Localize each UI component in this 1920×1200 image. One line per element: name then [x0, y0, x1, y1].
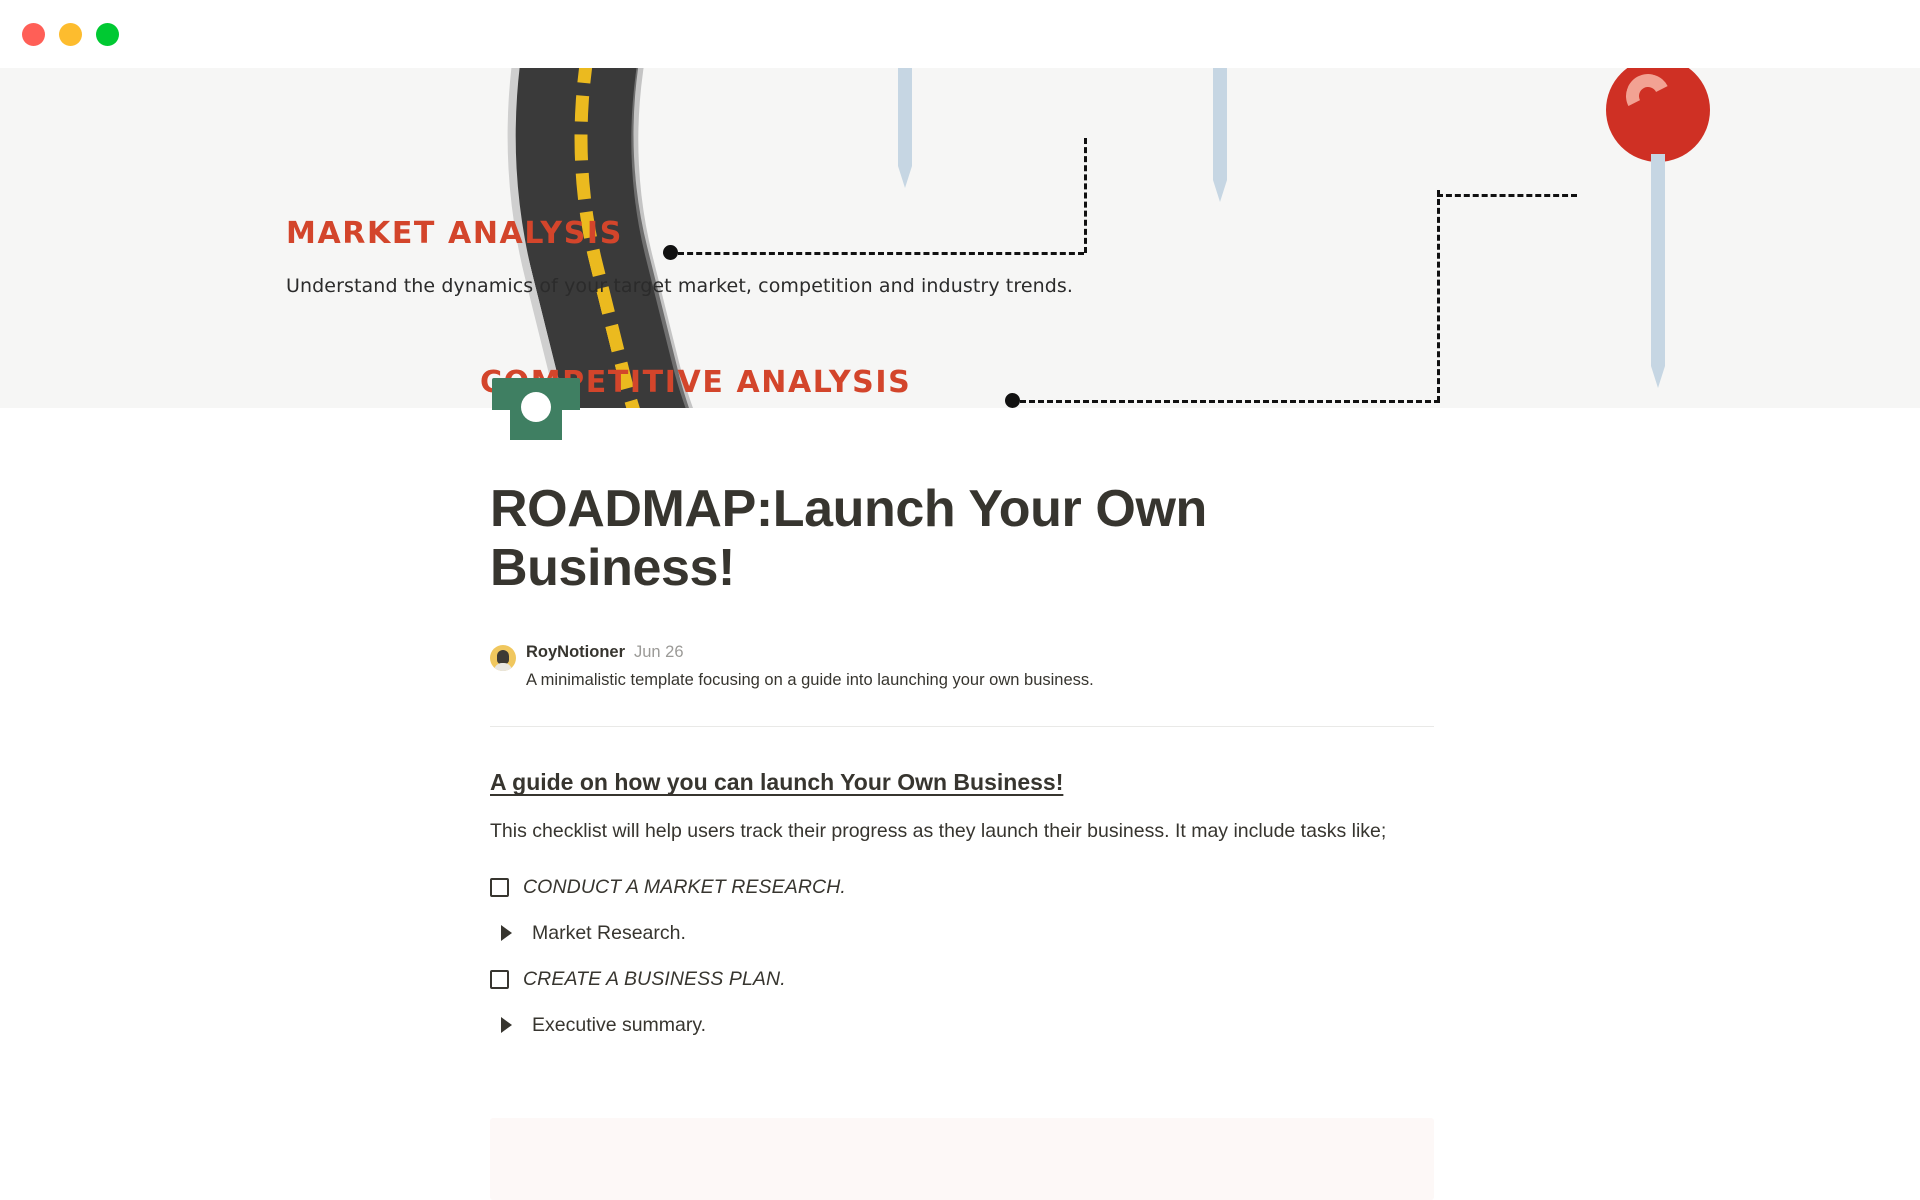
- checkbox-icon[interactable]: [490, 970, 509, 989]
- todo-item[interactable]: CONDUCT A MARKET RESEARCH.: [490, 866, 1434, 908]
- toggle-label: Market Research.: [532, 922, 686, 945]
- map-pin-tip: [1213, 180, 1227, 202]
- todo-label: CONDUCT A MARKET RESEARCH.: [523, 876, 846, 899]
- byline-content: RoyNotioner Jun 26 A minimalistic templa…: [526, 643, 1094, 693]
- checklist: CONDUCT A MARKET RESEARCH. Market Resear…: [490, 866, 1434, 1046]
- map-pin-highlight: [1620, 68, 1675, 123]
- map-pin-needle: [1213, 68, 1227, 180]
- page-description: A minimalistic template focusing on a gu…: [526, 669, 1094, 693]
- avatar-face: [497, 650, 509, 664]
- map-pin-needle: [898, 68, 912, 166]
- map-pin-tip: [1651, 366, 1665, 388]
- intro-paragraph: This checklist will help users track the…: [490, 818, 1400, 846]
- section-heading-wrap: A guide on how you can launch Your Own B…: [490, 727, 1434, 796]
- close-button[interactable]: [22, 23, 45, 46]
- checkbox-icon[interactable]: [490, 878, 509, 897]
- cover-banner[interactable]: MARKET ANALYSIS Understand the dynamics …: [0, 68, 1920, 408]
- banknote-notch-right: [562, 410, 580, 440]
- app-window: MARKET ANALYSIS Understand the dynamics …: [0, 0, 1920, 1200]
- toggle-item[interactable]: Executive summary.: [490, 1004, 1434, 1046]
- toggle-item[interactable]: Market Research.: [490, 912, 1434, 954]
- banknote-notch-left: [492, 410, 510, 440]
- chevron-right-icon[interactable]: [501, 925, 512, 941]
- map-pin-tip: [898, 166, 912, 188]
- cover-subtitle-market-analysis: Understand the dynamics of your target m…: [286, 273, 1073, 300]
- section-heading[interactable]: A guide on how you can launch Your Own B…: [490, 769, 1063, 796]
- cover-block-competitive-analysis: COMPETITIVE ANALYSIS Introduce the compe…: [480, 365, 1380, 408]
- document-body: ROADMAP:Launch Your Own Business! RoyNot…: [490, 480, 1434, 1046]
- byline-meta: RoyNotioner Jun 26: [526, 643, 1094, 662]
- maximize-button[interactable]: [96, 23, 119, 46]
- publish-date: Jun 26: [634, 643, 684, 662]
- byline: RoyNotioner Jun 26 A minimalistic templa…: [490, 643, 1434, 693]
- author-name[interactable]: RoyNotioner: [526, 643, 625, 662]
- window-titlebar: [0, 0, 1920, 68]
- cover-block-market-analysis: MARKET ANALYSIS Understand the dynamics …: [286, 216, 1073, 300]
- leader-line-market-vertical: [1084, 138, 1087, 253]
- page-title[interactable]: ROADMAP:Launch Your Own Business!: [490, 480, 1210, 599]
- avatar[interactable]: [490, 645, 516, 671]
- banknote-center: [521, 392, 551, 422]
- map-pin-needle: [1651, 154, 1665, 366]
- avatar-body: [494, 663, 512, 671]
- leader-line-competitive-vertical: [1437, 190, 1440, 402]
- toggle-label: Executive summary.: [532, 1014, 706, 1037]
- money-banknote-icon[interactable]: [492, 378, 580, 440]
- cover-heading-market-analysis: MARKET ANALYSIS: [286, 216, 1073, 251]
- todo-label: CREATE A BUSINESS PLAN.: [523, 968, 786, 991]
- cover-heading-competitive-analysis: COMPETITIVE ANALYSIS: [480, 365, 1380, 400]
- minimize-button[interactable]: [59, 23, 82, 46]
- leader-line-pin: [1437, 194, 1577, 197]
- callout-block[interactable]: [490, 1118, 1434, 1200]
- chevron-right-icon[interactable]: [501, 1017, 512, 1033]
- todo-item[interactable]: CREATE A BUSINESS PLAN.: [490, 958, 1434, 1000]
